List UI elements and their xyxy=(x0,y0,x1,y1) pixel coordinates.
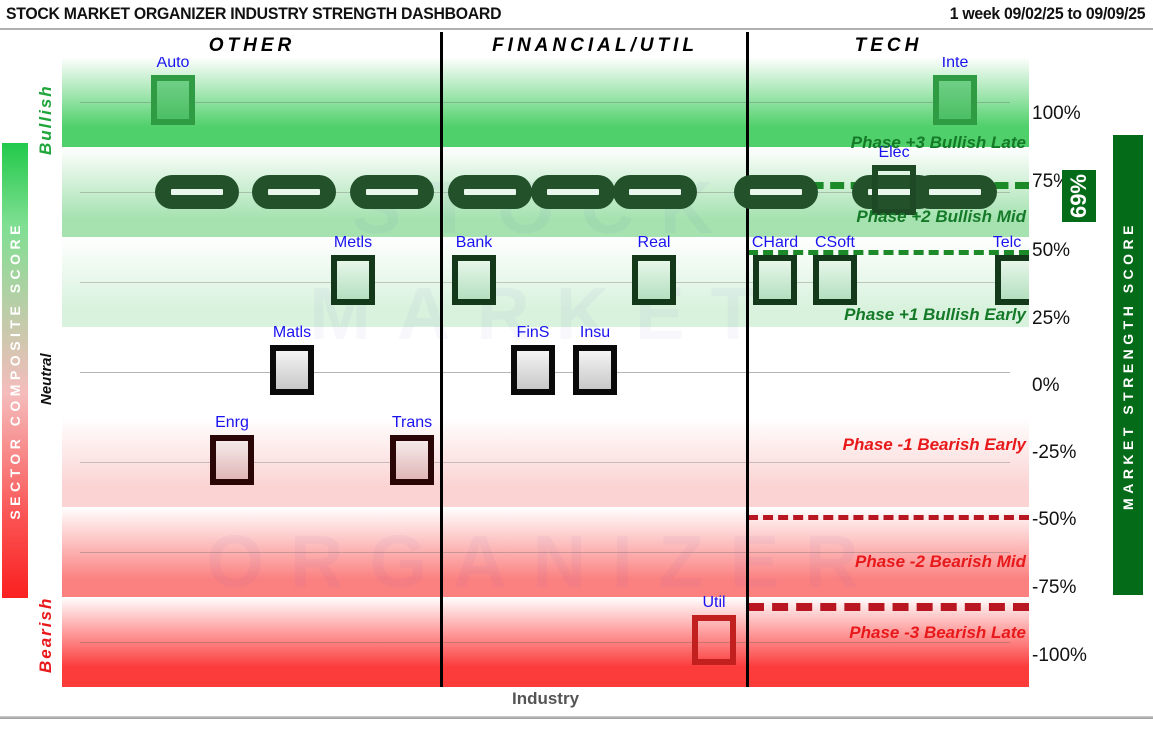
market-strength-value-badge: 69% xyxy=(1062,170,1096,222)
pill-icon xyxy=(350,175,434,209)
industry-label-real: Real xyxy=(609,234,699,252)
pill-icon xyxy=(448,175,532,209)
market-strength-tick-axis: 100% 75% 50% 25% 0% -25% -50% -75% -100% xyxy=(1032,57,1102,687)
industry-box-trans xyxy=(390,435,434,485)
industry-box-auto xyxy=(151,75,195,125)
industry-strength-plot: STOCK MARKET ORGANIZER xyxy=(62,57,1029,687)
industry-label-telc: Telc xyxy=(962,234,1029,252)
group-divider-2 xyxy=(746,57,749,687)
industry-label-insu: Insu xyxy=(550,324,640,342)
sector-composite-score-axis-title: SECTOR COMPOSITE SCORE xyxy=(2,143,28,598)
industry-box-matls xyxy=(270,345,314,395)
pill-icon xyxy=(913,175,997,209)
bottom-divider xyxy=(0,716,1153,719)
industry-box-csoft xyxy=(813,255,857,305)
market-strength-score-axis-title: MARKET STRENGTH SCORE xyxy=(1113,135,1143,595)
market-strength-value: 69% xyxy=(1066,174,1092,218)
pill-dash-icon xyxy=(366,189,418,195)
industry-box-enrg xyxy=(210,435,254,485)
industry-box-fins xyxy=(511,345,555,395)
industry-label-csoft: CSoft xyxy=(790,234,880,252)
pct-tick-0: 0% xyxy=(1032,375,1100,397)
group-divider-top-1 xyxy=(440,32,443,57)
phase-caption-plus1: Phase +1 Bullish Early xyxy=(844,305,1026,325)
pill-dash-icon xyxy=(268,189,320,195)
pct-tick-neg25: -25% xyxy=(1032,442,1100,464)
pct-tick-25: 25% xyxy=(1032,308,1100,330)
gridline-score-3 xyxy=(80,102,1010,103)
group-divider-top-2 xyxy=(746,32,749,57)
pill-icon xyxy=(734,175,818,209)
industry-box-chard xyxy=(753,255,797,305)
pill-icon xyxy=(531,175,615,209)
x-axis-title: Industry xyxy=(62,689,1029,709)
pct-tick-100: 100% xyxy=(1032,103,1100,125)
industry-box-metls xyxy=(331,255,375,305)
zone-label-bearish: Bearish xyxy=(36,575,56,695)
phase-caption-plus2: Phase +2 Bullish Mid xyxy=(856,207,1026,227)
industry-label-metls: Metls xyxy=(308,234,398,252)
pill-icon xyxy=(613,175,697,209)
pct-tick-50: 50% xyxy=(1032,240,1100,262)
phase-caption-plus3: Phase +3 Bullish Late xyxy=(851,133,1026,153)
industry-label-auto: Auto xyxy=(128,57,218,72)
industry-box-real xyxy=(632,255,676,305)
zone-label-bullish: Bullish xyxy=(36,60,56,180)
pill-icon xyxy=(252,175,336,209)
pill-dash-icon xyxy=(464,189,516,195)
phase-caption-minus3: Phase -3 Bearish Late xyxy=(849,623,1026,643)
pill-dash-icon xyxy=(750,189,802,195)
industry-box-util xyxy=(692,615,736,665)
pill-dash-icon xyxy=(547,189,599,195)
pct-tick-neg75: -75% xyxy=(1032,577,1100,599)
zone-label-neutral: Neutral xyxy=(38,325,55,433)
threshold-bearish-late xyxy=(748,603,1029,611)
phase-caption-minus2: Phase -2 Bearish Mid xyxy=(855,552,1026,572)
dashboard-root: STOCK MARKET ORGANIZER INDUSTRY STRENGTH… xyxy=(0,0,1153,729)
threshold-bearish-mid xyxy=(748,515,1029,520)
industry-label-inte: Inte xyxy=(910,57,1000,72)
gridline-score-1 xyxy=(80,282,1010,283)
page-title: STOCK MARKET ORGANIZER INDUSTRY STRENGTH… xyxy=(6,4,501,24)
group-header-financial-util: FINANCIAL/UTIL xyxy=(442,35,748,57)
industry-box-inte xyxy=(933,75,977,125)
pill-dash-icon xyxy=(629,189,681,195)
industry-label-bank: Bank xyxy=(429,234,519,252)
industry-label-util: Util xyxy=(669,594,759,612)
phase-caption-minus1: Phase -1 Bearish Early xyxy=(843,435,1026,455)
market-strength-score-axis-text: MARKET STRENGTH SCORE xyxy=(1120,221,1136,510)
industry-label-trans: Trans xyxy=(367,414,457,432)
group-header-other: OTHER xyxy=(62,35,442,57)
group-header-tech: TECH xyxy=(748,35,1029,57)
pct-tick-neg50: -50% xyxy=(1032,509,1100,531)
pct-tick-neg100: -100% xyxy=(1032,645,1100,667)
pill-icon xyxy=(155,175,239,209)
date-range-label: 1 week 09/02/25 to 09/09/25 xyxy=(949,4,1145,24)
industry-label-enrg: Enrg xyxy=(187,414,277,432)
header-bar: STOCK MARKET ORGANIZER INDUSTRY STRENGTH… xyxy=(0,0,1153,30)
industry-label-matls: Matls xyxy=(247,324,337,342)
sector-composite-score-axis-text: SECTOR COMPOSITE SCORE xyxy=(7,221,23,520)
pill-dash-icon xyxy=(929,189,981,195)
pill-dash-icon xyxy=(171,189,223,195)
industry-box-insu xyxy=(573,345,617,395)
industry-box-telc xyxy=(995,255,1029,305)
industry-box-bank xyxy=(452,255,496,305)
group-divider-1 xyxy=(440,57,443,687)
